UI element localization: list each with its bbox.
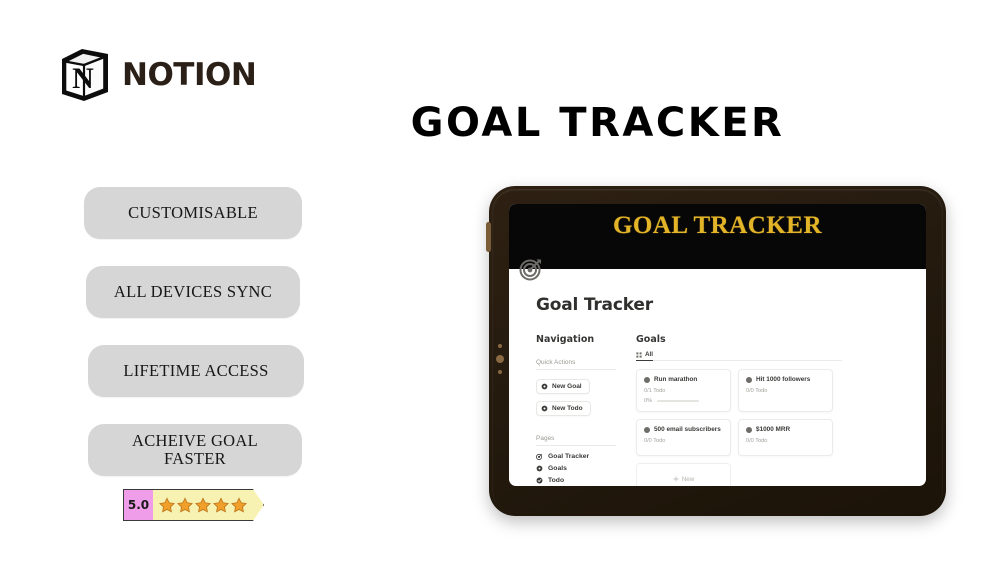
goal-card-title: $1000 MRR [756,426,790,433]
tablet-side-buttons [494,344,506,374]
tablet-button-dot [498,370,502,374]
sidebar-item-goals[interactable]: Goals [536,465,632,472]
feature-pill-label: ALL DEVICES SYNC [114,283,272,301]
spacer [536,421,632,435]
star-icon [159,497,175,513]
notion-page-body: Goal Tracker Navigation Quick Actions Ne… [509,269,926,486]
divider [536,445,616,446]
tab-all[interactable]: All [636,351,653,361]
goal-card-header: 500 email subscribers [644,426,723,433]
sidebar: Navigation Quick Actions New Goal [536,334,632,486]
quick-actions-label: Quick Actions [536,359,632,366]
goal-card-header: Run marathon [644,376,723,383]
notion-cube-icon: N [52,46,114,104]
tablet-button-dot [496,355,504,363]
goal-card[interactable]: Hit 1000 followers 0/0 Todo [738,369,833,412]
goal-card-header: $1000 MRR [746,426,825,433]
page-headline: GOAL TRACKER [0,100,1005,146]
goal-card[interactable]: 500 email subscribers 0/0 Todo [636,419,731,456]
gear-icon [541,405,548,412]
goal-card-title: Run marathon [654,376,697,383]
goals-heading: Goals [636,334,926,345]
feature-pill-acheive-goal-faster[interactable]: ACHEIVE GOAL FASTER [88,424,302,476]
goal-card-todo-count: 0/1 Todo [644,388,723,394]
rating-score: 5.0 [123,489,153,521]
rating-badge: 5.0 [123,489,264,521]
main-content: Goals All Run ma [632,334,926,486]
goal-bullet-icon [644,377,650,383]
new-goal-button[interactable]: New Goal [536,379,590,394]
star-icon [195,497,211,513]
sidebar-item-label: Todo [548,477,564,484]
sidebar-item-label: Goal Tracker [548,453,589,460]
feature-pill-list: CUSTOMISABLE ALL DEVICES SYNC LIFETIME A… [84,187,302,503]
divider [536,369,616,370]
sidebar-item-goal-tracker[interactable]: Goal Tracker [536,453,632,460]
feature-pill-label: ACHEIVE GOAL FASTER [132,432,258,469]
tablet-mockup: GOAL TRACKER Goal Tracker Navigation Qui… [489,186,946,516]
gear-icon [541,383,548,390]
new-goal-card-label: New [682,476,694,483]
page-title: Goal Tracker [536,295,926,315]
target-dart-icon [536,453,543,460]
pages-label: Pages [536,435,632,442]
plus-icon [673,476,679,482]
goal-bullet-icon [746,427,752,433]
goal-card[interactable]: $1000 MRR 0/0 Todo [738,419,833,456]
gear-icon [536,465,543,472]
goal-card-todo-count: 0/0 Todo [746,388,825,394]
feature-pill-customisable[interactable]: CUSTOMISABLE [84,187,302,239]
tablet-screen: GOAL TRACKER Goal Tracker Navigation Qui… [509,204,926,486]
sidebar-item-todo[interactable]: Todo [536,477,632,484]
goals-view-tabs: All [636,351,842,361]
goal-card-todo-count: 0/0 Todo [644,438,723,444]
cover-title: GOAL TRACKER [613,212,822,240]
goal-card-header: Hit 1000 followers [746,376,825,383]
tablet-button-dot [498,344,502,348]
rating-stars [153,489,264,521]
goal-card-title: 500 email subscribers [654,426,721,433]
star-icon [213,497,229,513]
goal-cards-grid: Run marathon 0/1 Todo 0% Hit 1000 [636,369,926,486]
brand-lockup: N NOTION [52,46,256,104]
goal-card-todo-count: 0/0 Todo [746,438,825,444]
new-goal-label: New Goal [552,383,582,390]
svg-text:N: N [72,62,94,95]
tab-all-label: All [645,351,653,358]
new-todo-label: New Todo [552,405,583,412]
sidebar-heading: Navigation [536,334,632,345]
goal-card-percent: 0% [644,398,652,404]
progress-bar [657,400,699,402]
tablet-power-button [486,222,491,252]
page-columns: Navigation Quick Actions New Goal [509,334,926,486]
grid-view-icon [636,352,642,358]
goal-card[interactable]: Run marathon 0/1 Todo 0% [636,369,731,412]
new-todo-button[interactable]: New Todo [536,401,591,416]
new-goal-card-button[interactable]: New [636,463,731,486]
feature-pill-label: CUSTOMISABLE [128,204,258,222]
goal-bullet-icon [746,377,752,383]
goal-card-progress: 0% [644,398,723,404]
feature-pill-lifetime-access[interactable]: LIFETIME ACCESS [88,345,304,397]
brand-wordmark: NOTION [122,57,256,93]
feature-pill-label: LIFETIME ACCESS [123,362,268,380]
star-icon [231,497,247,513]
sidebar-item-label: Goals [548,465,567,472]
notion-cover-banner: GOAL TRACKER [509,204,926,269]
star-icon [177,497,193,513]
goal-card-title: Hit 1000 followers [756,376,810,383]
goal-bullet-icon [644,427,650,433]
check-circle-icon [536,477,543,484]
feature-pill-all-devices-sync[interactable]: ALL DEVICES SYNC [86,266,300,318]
